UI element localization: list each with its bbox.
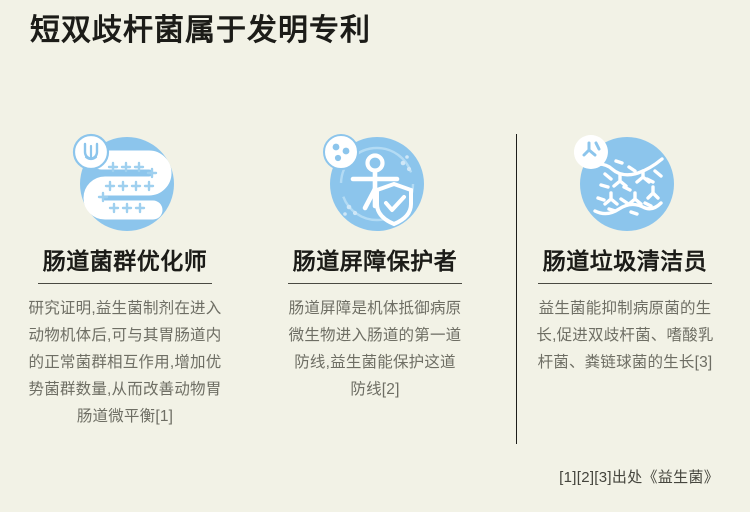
column-heading: 肠道垃圾清洁员 bbox=[543, 246, 708, 276]
feature-column-gut-flora: 肠道菌群优化师 研究证明,益生菌制剂在进入动物机体后,可与其胃肠道内的正常菌群相… bbox=[0, 120, 250, 430]
bacteria-cluster-icon bbox=[565, 127, 685, 237]
infographic-page: 短双歧杆菌属于发明专利 bbox=[0, 0, 750, 512]
intestine-plus-icon bbox=[65, 127, 185, 237]
feature-columns: 肠道菌群优化师 研究证明,益生菌制剂在进入动物机体后,可与其胃肠道内的正常菌群相… bbox=[0, 120, 750, 430]
column-body-text: 研究证明,益生菌制剂在进入动物机体后,可与其胃肠道内的正常菌群相互作用,增加优势… bbox=[22, 295, 228, 430]
heading-divider bbox=[288, 283, 462, 284]
column-body-text: 益生菌能抑制病原菌的生长,促进双歧杆菌、嗜酸乳杆菌、粪链球菌的生长[3] bbox=[533, 295, 717, 376]
heading-divider bbox=[538, 283, 712, 284]
column-heading: 肠道屏障保护者 bbox=[293, 246, 458, 276]
feature-column-gut-cleaner: 肠道垃圾清洁员 益生菌能抑制病原菌的生长,促进双歧杆菌、嗜酸乳杆菌、粪链球菌的生… bbox=[500, 120, 750, 376]
body-shield-icon bbox=[315, 127, 435, 237]
column-heading: 肠道菌群优化师 bbox=[43, 246, 208, 276]
heading-divider bbox=[38, 283, 212, 284]
page-title: 短双歧杆菌属于发明专利 bbox=[30, 9, 371, 53]
source-footnote: [1][2][3]出处《益生菌》 bbox=[559, 466, 719, 487]
column-body-text: 肠道屏障是机体抵御病原微生物进入肠道的第一道防线,益生菌能保护这道防线[2] bbox=[287, 295, 463, 403]
feature-column-gut-barrier: 肠道屏障保护者 肠道屏障是机体抵御病原微生物进入肠道的第一道防线,益生菌能保护这… bbox=[250, 120, 500, 403]
